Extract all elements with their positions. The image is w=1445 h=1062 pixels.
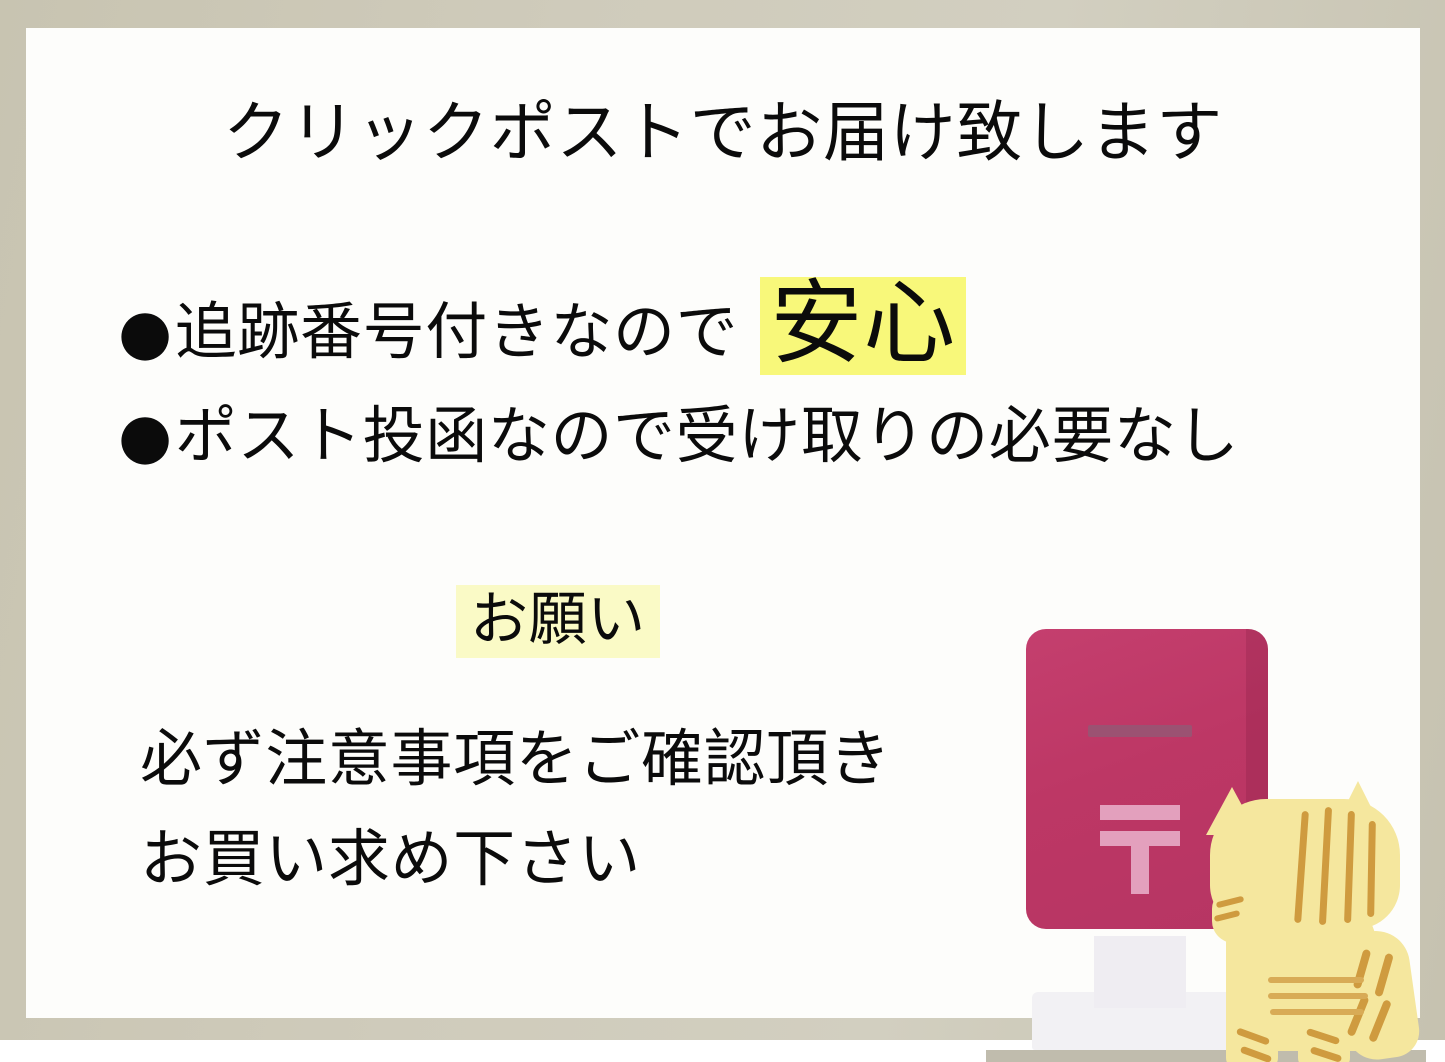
request-line-1: 必ず注意事項をご確認頂き <box>140 728 891 790</box>
highlight-onegai: お願い <box>456 585 660 658</box>
bullet-text-tracking: 追跡番号付きなので <box>175 299 739 366</box>
bullet-dot-icon: ● <box>118 405 173 467</box>
beige-frame-border: クリックポストでお届け致します ● 追跡番号付きなので 安心 ● ポスト投函なの… <box>0 0 1445 1040</box>
request-line-2: お買い求め下さい <box>140 828 641 890</box>
white-card: クリックポストでお届け致します ● 追跡番号付きなので 安心 ● ポスト投函なの… <box>26 28 1420 1018</box>
postal-mark-icon <box>1100 831 1180 846</box>
cat-torso-stripe <box>1270 1009 1364 1015</box>
bullet-dot-icon: ● <box>118 301 173 363</box>
promo-banner: クリックポストでお届け致します ● 追跡番号付きなので 安心 ● ポスト投函なの… <box>0 0 1445 1062</box>
postal-mark-icon <box>1100 805 1180 820</box>
bullet-item-mailbox-delivery: ● ポスト投函なので受け取りの必要なし <box>118 403 1239 470</box>
bullet-text-mailbox-delivery: ポスト投函なので受け取りの必要なし <box>175 403 1240 470</box>
cat-torso-stripe <box>1268 993 1368 999</box>
postal-mark-icon <box>1131 846 1149 894</box>
bullet-item-tracking: ● 追跡番号付きなので 安心 <box>118 283 966 381</box>
request-heading-wrapper: お願い <box>456 585 660 658</box>
postbox-mail-slot <box>1088 725 1192 737</box>
postbox-cat-illustration <box>986 603 1426 1062</box>
page-title: クリックポストでお届け致します <box>26 100 1420 166</box>
cat-figure <box>1182 781 1426 1062</box>
highlight-anshin: 安心 <box>760 277 966 375</box>
cat-torso-stripe <box>1268 977 1364 983</box>
postbox-pedestal-post <box>1094 936 1186 1008</box>
